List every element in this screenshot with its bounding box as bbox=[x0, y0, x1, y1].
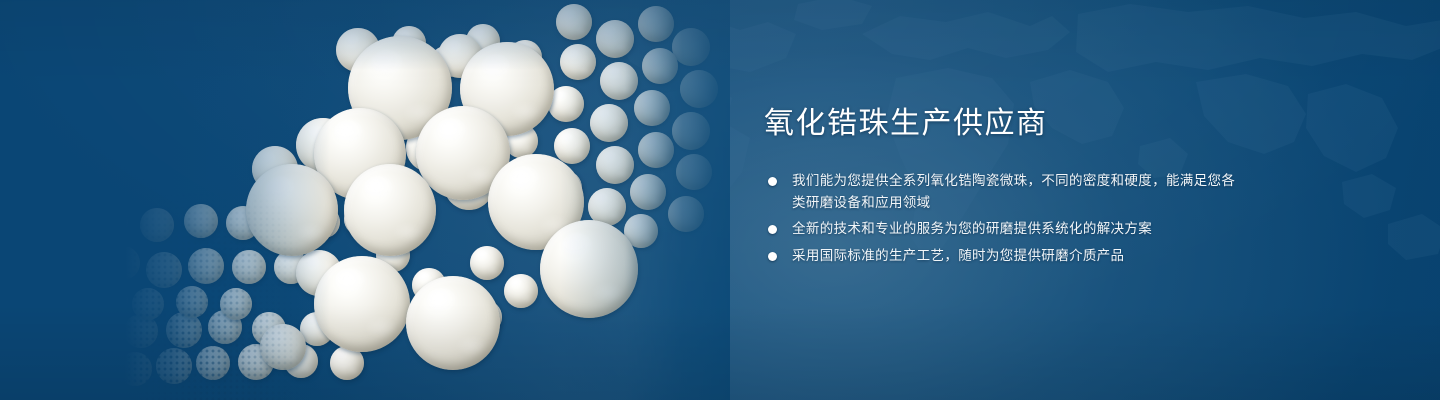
bullet-dot-icon bbox=[768, 225, 777, 234]
bullet-text: 全新的技术和专业的服务为您的研磨提供系统化的解决方案 bbox=[792, 221, 1152, 236]
list-item: 全新的技术和专业的服务为您的研磨提供系统化的解决方案 bbox=[764, 218, 1244, 240]
list-item: 我们能为您提供全系列氧化锆陶瓷微珠，不同的密度和硬度，能满足您各类研磨设备和应用… bbox=[764, 170, 1244, 213]
bullet-dot-icon bbox=[768, 177, 777, 186]
banner-headline: 氧化锆珠生产供应商 bbox=[764, 104, 1244, 144]
bullet-text: 采用国际标准的生产工艺，随时为您提供研磨介质产品 bbox=[792, 248, 1124, 263]
list-item: 采用国际标准的生产工艺，随时为您提供研磨介质产品 bbox=[764, 245, 1244, 267]
hero-banner: 氧化锆珠生产供应商 我们能为您提供全系列氧化锆陶瓷微珠，不同的密度和硬度，能满足… bbox=[0, 0, 1440, 400]
bullet-dot-icon bbox=[768, 252, 777, 261]
bullet-text: 我们能为您提供全系列氧化锆陶瓷微珠，不同的密度和硬度，能满足您各类研磨设备和应用… bbox=[792, 173, 1235, 210]
banner-bullet-list: 我们能为您提供全系列氧化锆陶瓷微珠，不同的密度和硬度，能满足您各类研磨设备和应用… bbox=[764, 170, 1244, 266]
banner-copy: 氧化锆珠生产供应商 我们能为您提供全系列氧化锆陶瓷微珠，不同的密度和硬度，能满足… bbox=[764, 104, 1244, 266]
